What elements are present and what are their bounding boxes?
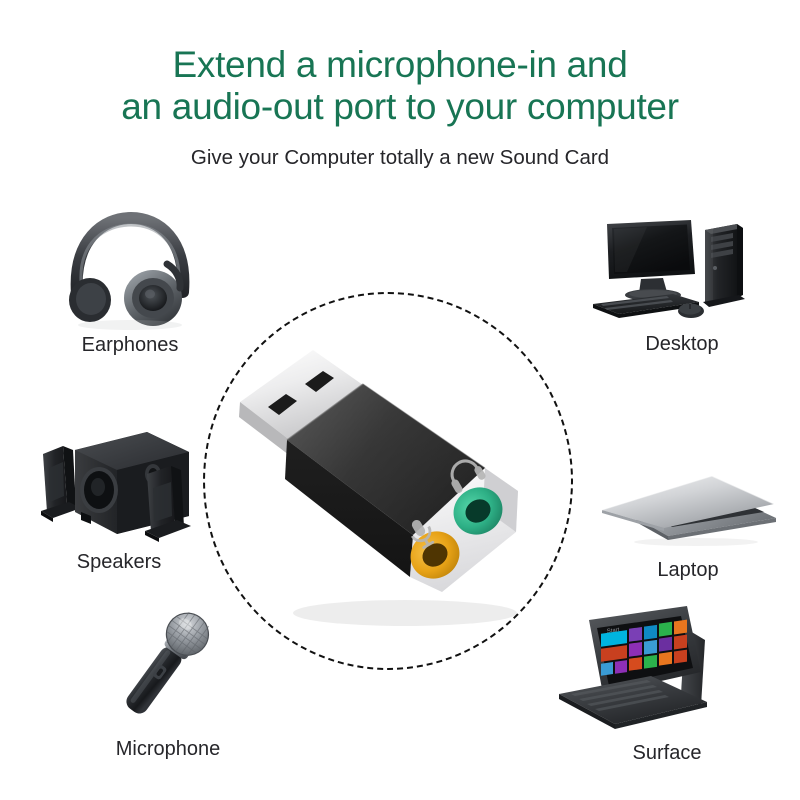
monitor xyxy=(607,220,695,301)
device-item-speakers: Speakers xyxy=(16,412,222,574)
speaker-system-icon xyxy=(29,412,209,547)
page-title-line-2: an audio-out port to your computer xyxy=(0,86,800,128)
device-label-surface: Surface xyxy=(548,741,786,765)
device-label-laptop: Laptop xyxy=(586,558,790,582)
desktop-computer-icon xyxy=(587,216,777,329)
device-item-microphone: Microphone xyxy=(68,612,268,761)
headphones-icon xyxy=(55,212,205,330)
page-title-line-1: Extend a microphone-in and xyxy=(0,44,800,86)
laptop-icon xyxy=(596,470,781,555)
device-label-desktop: Desktop xyxy=(576,332,788,356)
surface-tablet-icon: Start xyxy=(555,598,779,738)
device-label-microphone: Microphone xyxy=(68,737,268,761)
product-image-usb-sound-card xyxy=(235,345,555,645)
handheld-microphone-icon xyxy=(88,612,248,734)
heading-block: Extend a microphone-in and an audio-out … xyxy=(0,44,800,171)
device-label-earphones: Earphones xyxy=(30,333,230,357)
device-label-speakers: Speakers xyxy=(16,550,222,574)
device-item-earphones: Earphones xyxy=(30,212,230,357)
device-item-laptop: Laptop xyxy=(586,470,790,582)
page-subtitle: Give your Computer totally a new Sound C… xyxy=(0,145,800,171)
device-item-surface: Start xyxy=(548,598,786,765)
mouse xyxy=(678,304,704,319)
pc-tower xyxy=(703,224,745,307)
device-item-desktop: Desktop xyxy=(576,216,788,356)
